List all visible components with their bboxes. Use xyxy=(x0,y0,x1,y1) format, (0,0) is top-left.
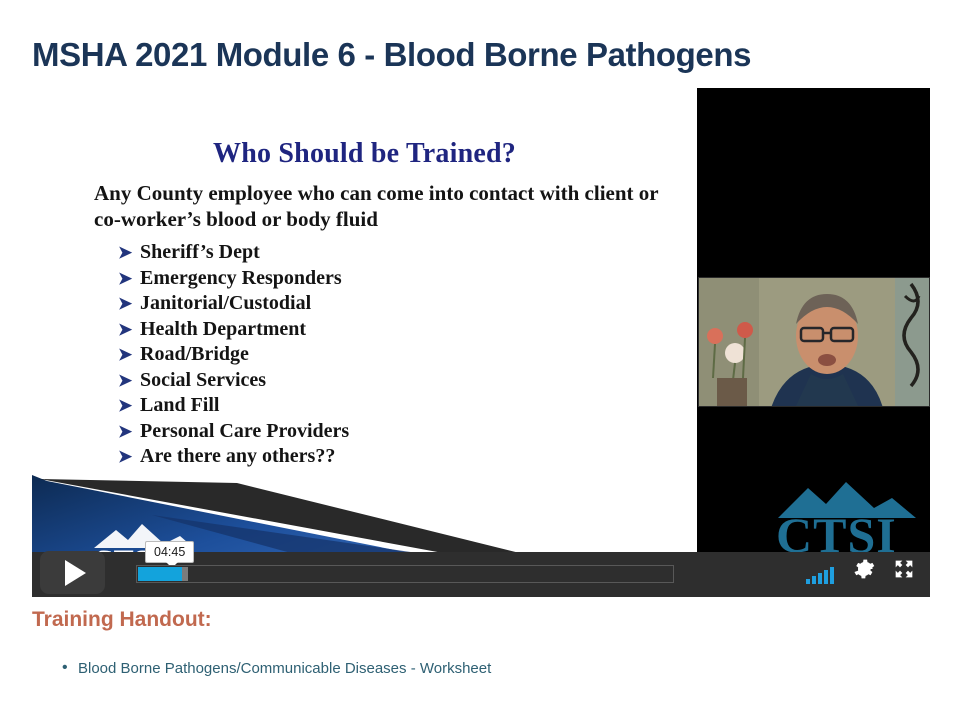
arrow-bullet-icon: ➤ xyxy=(118,419,140,445)
list-item-label: Janitorial/Custodial xyxy=(140,292,311,314)
page-root: MSHA 2021 Module 6 - Blood Borne Pathoge… xyxy=(0,0,960,721)
arrow-bullet-icon: ➤ xyxy=(118,291,140,317)
arrow-bullet-icon: ➤ xyxy=(118,368,140,394)
list-item: ➤Health Department xyxy=(118,317,349,343)
list-item-label: Are there any others?? xyxy=(140,445,335,467)
list-item: ➤Road/Bridge xyxy=(118,342,349,368)
play-icon xyxy=(65,560,86,586)
slide-heading: Who Should be Trained? xyxy=(32,138,697,170)
list-item-label: Sheriff’s Dept xyxy=(140,241,260,263)
fullscreen-icon[interactable] xyxy=(894,559,914,584)
arrow-bullet-icon: ➤ xyxy=(118,266,140,292)
progress-handle[interactable] xyxy=(182,567,188,581)
volume-bar xyxy=(806,579,810,584)
list-item: ➤Janitorial/Custodial xyxy=(118,291,349,317)
list-item-label: Road/Bridge xyxy=(140,343,249,365)
list-item: ➤Personal Care Providers xyxy=(118,419,349,445)
gear-icon[interactable] xyxy=(853,558,875,585)
list-item: ➤Social Services xyxy=(118,368,349,394)
list-item: ➤Emergency Responders xyxy=(118,266,349,292)
arrow-bullet-icon: ➤ xyxy=(118,240,140,266)
webcam-thumbnail[interactable] xyxy=(698,277,930,407)
volume-bar xyxy=(812,576,816,584)
handout-section-title: Training Handout: xyxy=(32,608,212,632)
arrow-bullet-icon: ➤ xyxy=(118,342,140,368)
list-item: ➤Are there any others?? xyxy=(118,444,349,470)
volume-bar xyxy=(830,567,834,584)
volume-icon[interactable] xyxy=(806,566,834,584)
volume-bar xyxy=(824,570,828,584)
slide-lead-text: Any County employee who can come into co… xyxy=(94,180,674,232)
handout-link[interactable]: Blood Borne Pathogens/Communicable Disea… xyxy=(62,658,491,680)
slide-stage: Who Should be Trained? Any County employ… xyxy=(32,88,697,597)
list-item-label: Health Department xyxy=(140,318,306,340)
play-button[interactable] xyxy=(40,551,105,594)
arrow-bullet-icon: ➤ xyxy=(118,317,140,343)
ctsi-corner-logo: CTSI xyxy=(772,478,922,561)
list-item: ➤Sheriff’s Dept xyxy=(118,240,349,266)
svg-text:CTSI: CTSI xyxy=(776,507,897,556)
video-player[interactable]: Who Should be Trained? Any County employ… xyxy=(32,88,930,597)
page-title: MSHA 2021 Module 6 - Blood Borne Pathoge… xyxy=(32,36,751,74)
list-item-label: Emergency Responders xyxy=(140,267,342,289)
progress-bar[interactable] xyxy=(136,565,674,583)
time-tooltip: 04:45 xyxy=(145,541,194,563)
arrow-bullet-icon: ➤ xyxy=(118,444,140,470)
list-item-label: Social Services xyxy=(140,369,266,391)
list-item: ➤Land Fill xyxy=(118,393,349,419)
video-control-bar[interactable]: 04:45 xyxy=(32,552,930,597)
arrow-bullet-icon: ➤ xyxy=(118,393,140,419)
handout-link-list: Blood Borne Pathogens/Communicable Disea… xyxy=(62,658,491,680)
list-item-label: Land Fill xyxy=(140,394,219,416)
volume-bar xyxy=(818,573,822,584)
progress-fill xyxy=(138,567,182,581)
slide-bullet-list: ➤Sheriff’s Dept ➤Emergency Responders ➤J… xyxy=(118,240,349,470)
list-item-label: Personal Care Providers xyxy=(140,420,349,442)
